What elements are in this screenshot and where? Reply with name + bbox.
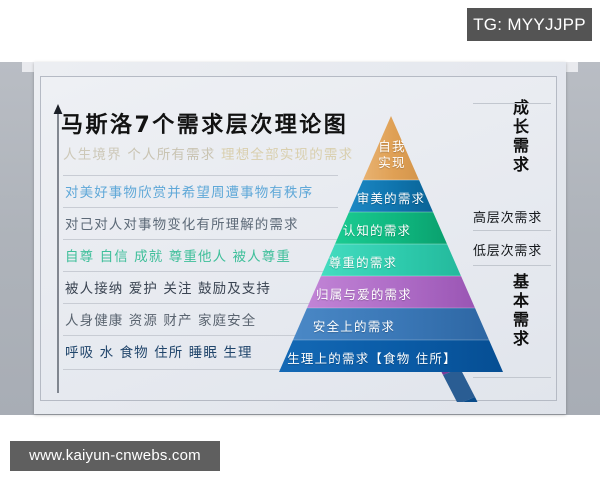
right-label-basic-needs: 基本需求: [511, 273, 527, 369]
row-divider-1: [63, 175, 338, 176]
pyramid-label-self-actualization: 自我 实现: [366, 139, 418, 171]
page-title: 马斯洛7个需求层次理论图: [61, 107, 348, 139]
row-divider-6: [63, 335, 338, 336]
page-subtitle: 人生境界 个人所有需求 理想全部实现的需求: [63, 143, 353, 163]
row-divider-4: [63, 271, 338, 272]
left-description-safety: 人身健康 资源 财产 家庭安全: [65, 309, 256, 329]
slide-page: 马斯洛7个需求层次理论图 人生境界 个人所有需求 理想全部实现的需求 对美好事物…: [34, 62, 566, 414]
pyramid-label-safety: 安全上的需求: [289, 316, 419, 335]
site-watermark: www.kaiyun-cnwebs.com: [10, 441, 220, 471]
pyramid-label-esteem: 尊重的需求: [313, 252, 413, 271]
pyramid-label-physiological: 生理上的需求【食物 住所】: [277, 348, 467, 367]
right-divider-low: [473, 265, 551, 266]
left-description-esteem: 自尊 自信 成就 尊重他人 被人尊重: [65, 245, 291, 265]
right-label-growth-needs: 成长需求: [511, 99, 527, 195]
left-description-belonging: 被人接纳 爱护 关注 鼓励及支持: [65, 277, 271, 297]
strip-notch-left: [22, 62, 34, 72]
row-divider-5: [63, 303, 338, 304]
left-description-physiological: 呼吸 水 食物 住所 睡眠 生理: [65, 341, 253, 361]
row-divider-3: [63, 239, 338, 240]
right-divider-top: [473, 103, 551, 104]
pyramid-label-cognitive: 认知的需求: [327, 220, 427, 239]
subtitle-part-2: 个人所有需求: [127, 147, 215, 163]
subtitle-part-1: 人生境界: [63, 147, 122, 163]
strip-notch-right: [566, 62, 578, 72]
left-description-cognitive: 对己对人对事物变化有所理解的需求: [65, 213, 299, 233]
slide-inner-frame: 马斯洛7个需求层次理论图 人生境界 个人所有需求 理想全部实现的需求 对美好事物…: [40, 76, 557, 401]
right-label-low-level-needs: 低层次需求: [473, 240, 542, 259]
pyramid-label-aesthetic: 审美的需求: [341, 188, 441, 207]
tg-badge: TG: MYYJJPP: [467, 8, 592, 41]
pyramid-label-self-actualization-line2: 实现: [366, 155, 418, 171]
right-divider-mid: [473, 230, 551, 231]
right-label-high-level-needs: 高层次需求: [473, 207, 542, 226]
subtitle-part-3: 理想全部实现的需求: [221, 147, 353, 163]
right-divider-bottom: [473, 377, 551, 378]
pyramid-label-belonging: 归属与爱的需求: [299, 284, 429, 303]
slide-content: 马斯洛7个需求层次理论图 人生境界 个人所有需求 理想全部实现的需求 对美好事物…: [41, 77, 556, 400]
pyramid-label-self-actualization-line1: 自我: [366, 139, 418, 155]
row-divider-2: [63, 207, 338, 208]
row-divider-7: [63, 369, 338, 370]
left-description-aesthetic: 对美好事物欣赏并希望周遭事物有秩序: [65, 181, 313, 201]
